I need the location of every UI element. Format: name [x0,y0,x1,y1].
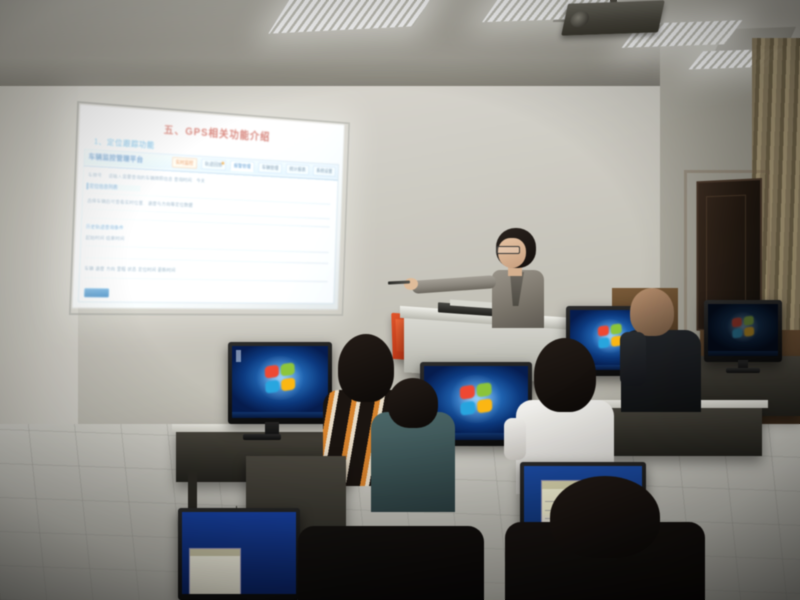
student-foreground-left [296,496,486,600]
app-alert-dot-icon [222,162,225,165]
monitor-foreground-left [178,508,300,600]
student-teal-head [388,378,438,428]
monitor-windows7-left [228,342,332,424]
app-tab-4: 统计报表 [286,164,309,175]
projector-lens-icon [569,11,591,28]
app-form-row-2: 选择车辆后可查看实时位置、速度与方向等定位数据 [87,197,193,208]
student-dark-top-right [618,288,704,408]
app-divider-4 [85,257,329,263]
door-panel [706,195,746,306]
app-form-row-5: 车辆 速度 方向 里程 状态 定位时间 更新时间 [84,265,176,274]
glasses-icon [496,246,520,254]
student-dark-arm [620,332,646,386]
monitor-bezel [704,300,782,362]
application-titlebar [190,549,240,555]
app-divider-3 [85,245,329,252]
monitor-base [726,368,760,373]
monitor-base [243,434,281,440]
desktop-icons [236,350,241,362]
monitor-bezel [178,508,300,600]
student-teal-top [368,378,458,508]
slide-embedded-app-screenshot: 车辆监控管理平台 实时监控 轨迹回放 报警管理 车辆管理 统计报表 系统设置 车… [78,148,339,304]
projected-slide: 五、GPS相关功能介绍 1、定位跟踪功能 车辆监控管理平台 实时监控 轨迹回放 … [72,104,344,309]
student-white-arm [504,418,526,460]
monitor-screen [182,512,296,594]
monitor-windows7-back-right [704,300,782,362]
monitor-bezel [228,342,332,424]
instructor [468,228,568,324]
student-foreground-head [550,476,660,558]
windows-logo-icon [460,382,493,416]
application-window [189,548,241,594]
windows-taskbar [708,351,778,356]
app-form-row-4: 起始时间 结束时间 [85,234,124,242]
app-form-row-3: 历史轨迹查询条件 [86,223,124,231]
monitor-screen [708,304,778,356]
windows-logo-icon [732,315,754,338]
student-foreground [500,476,710,600]
app-divider-5 [84,277,328,282]
app-tab-3: 车辆管理 [258,162,282,174]
student-white-head [534,338,596,412]
projection-screen: 五、GPS相关功能介绍 1、定位跟踪功能 车辆监控管理平台 实时监控 轨迹回放 … [72,104,344,309]
student-dark-head [630,288,674,336]
app-divider-1 [86,208,329,218]
windows-logo-icon [265,362,296,393]
classroom-photo: 五、GPS相关功能介绍 1、定位跟踪功能 车辆监控管理平台 实时监控 轨迹回放 … [0,0,800,600]
app-tab-2: 报警管理 [230,160,254,172]
app-form-row-1: 定位信息列表 [89,183,118,191]
app-tab-0: 实时监控 [172,157,197,169]
windows-taskbar [232,412,328,418]
ceiling-projector-icon [561,0,665,35]
student-foreground-left-torso [298,526,484,600]
app-search-button [84,288,109,297]
app-tab-5: 系统设置 [313,165,336,176]
monitor-screen [232,346,328,418]
